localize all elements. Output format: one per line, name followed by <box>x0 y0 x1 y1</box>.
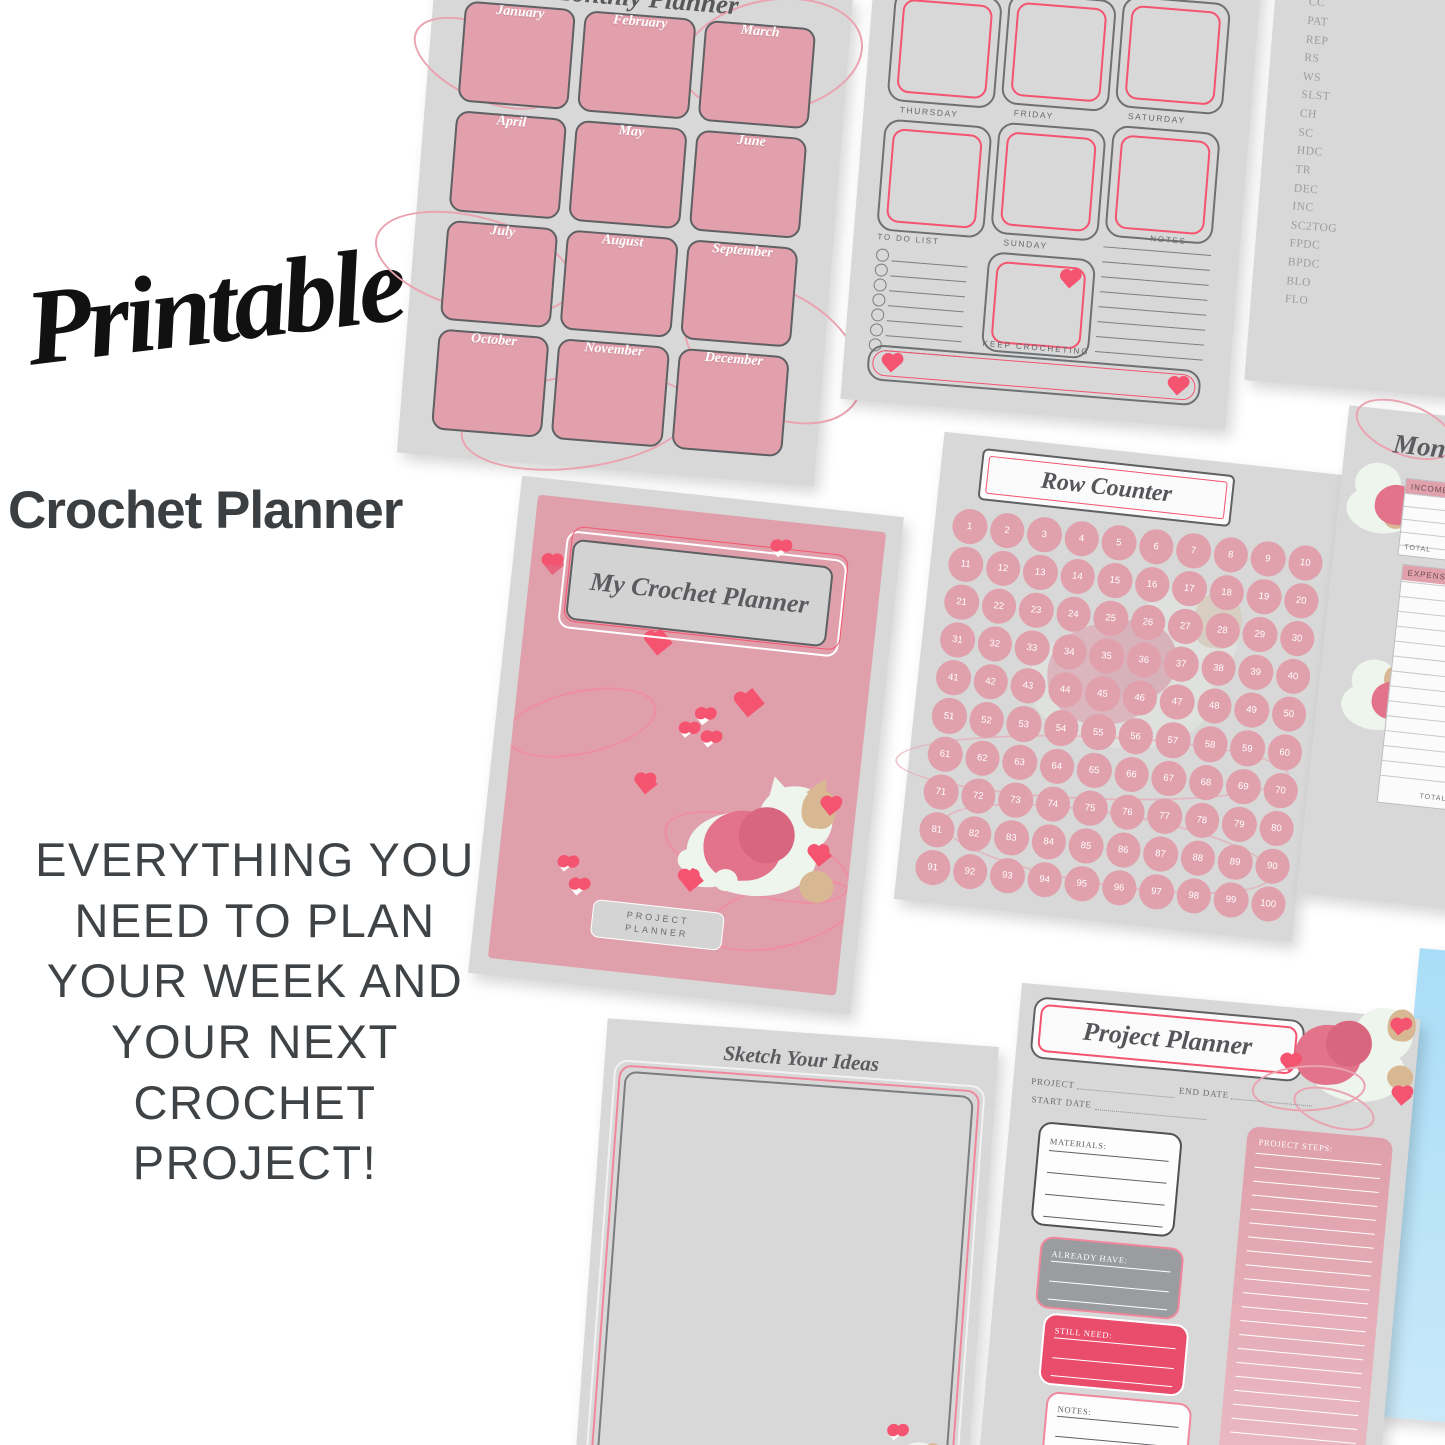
heart-icon <box>636 773 658 795</box>
project-step-line[interactable] <box>1239 1334 1365 1347</box>
project-step-line[interactable] <box>1240 1320 1366 1333</box>
project-step-line[interactable] <box>1254 1167 1380 1180</box>
month-label: July <box>449 219 557 244</box>
row-counter-cell[interactable]: 94 <box>1025 860 1063 899</box>
heart-icon <box>889 1428 901 1440</box>
row-counter-cell[interactable]: 63 <box>1001 743 1039 782</box>
todo-checkbox[interactable] <box>874 263 888 277</box>
printable-script-word: Printable <box>19 220 434 418</box>
month-label: April <box>457 110 565 135</box>
month-label: May <box>577 120 685 145</box>
project-steps-label: PROJECT STEPS: <box>1258 1137 1333 1154</box>
row-counter-cell[interactable]: 37 <box>1162 645 1200 684</box>
row-counter-cell[interactable]: 88 <box>1179 839 1217 878</box>
row-counter-grid[interactable]: 1234567891011121314151617181920212223242… <box>914 507 1325 923</box>
row-counter-cell[interactable]: 47 <box>1158 683 1196 722</box>
row-counter-cell[interactable]: 38 <box>1199 649 1237 688</box>
row-counter-cell[interactable]: 100 <box>1249 885 1287 924</box>
row-counter-cell[interactable]: 11 <box>947 545 985 584</box>
page-title: Crochet Planner <box>8 480 508 541</box>
row-counter-cell[interactable]: 15 <box>1096 561 1134 600</box>
month-box[interactable]: June <box>688 129 807 238</box>
row-counter-cell[interactable]: 73 <box>996 781 1034 820</box>
todo-line[interactable] <box>889 290 965 297</box>
day-box-wednesday[interactable]: WEDNESDAY <box>1115 0 1232 115</box>
row-counter-cell[interactable]: 31 <box>938 621 976 660</box>
row-counter-cell[interactable]: 55 <box>1079 713 1117 752</box>
marketing-tagline: EVERYTHING YOU NEED TO PLAN YOUR WEEK AN… <box>30 830 480 1194</box>
row-counter-cell[interactable]: 91 <box>914 848 952 887</box>
project-step-line[interactable] <box>1256 1153 1382 1166</box>
month-box[interactable]: November <box>551 338 670 447</box>
month-label: September <box>688 239 796 264</box>
project-step-line[interactable] <box>1238 1348 1364 1361</box>
notes-line[interactable] <box>1102 261 1210 271</box>
row-counter-cell[interactable]: 97 <box>1137 872 1175 911</box>
day-label: FRIDAY <box>1013 108 1054 121</box>
row-counter-cell[interactable]: 22 <box>980 587 1018 626</box>
todo-checkbox[interactable] <box>876 248 890 262</box>
project-planner-title: Project Planner <box>1032 998 1304 1080</box>
row-counter-cell[interactable]: 40 <box>1274 657 1312 696</box>
row-counter-cell[interactable]: 10 <box>1286 544 1324 583</box>
row-counter-cell[interactable]: 18 <box>1208 574 1246 613</box>
month-box[interactable]: February <box>577 10 696 119</box>
row-counter-cell[interactable]: 74 <box>1034 785 1072 824</box>
heart-icon <box>735 688 765 717</box>
row-counter-cell[interactable]: 54 <box>1042 709 1080 748</box>
month-label: November <box>560 338 668 363</box>
materials-card[interactable]: MATERIALS: <box>1030 1121 1183 1238</box>
row-counter-cell[interactable]: 41 <box>934 659 972 698</box>
field-label-project: PROJECT <box>1031 1076 1075 1090</box>
notes-label: NOTES: <box>1057 1404 1092 1417</box>
notes-card[interactable]: NOTES: <box>1041 1391 1192 1445</box>
todo-checkbox[interactable] <box>873 278 887 292</box>
notes-line[interactable] <box>1101 276 1209 286</box>
row-counter-cell[interactable]: 30 <box>1278 619 1316 658</box>
month-box[interactable]: September <box>680 239 799 348</box>
row-counter-page: Row Counter 1234567891011121314151617181… <box>894 432 1342 942</box>
row-counter-cell[interactable]: 69 <box>1224 767 1262 806</box>
income-row[interactable] <box>1404 506 1445 529</box>
income-label: INCOME <box>1405 479 1445 501</box>
row-counter-cell[interactable]: 75 <box>1071 789 1109 828</box>
row-counter-cell[interactable]: 72 <box>959 776 997 815</box>
row-counter-cell[interactable]: 48 <box>1195 687 1233 726</box>
day-label: SATURDAY <box>1128 111 1186 126</box>
month-label: August <box>568 229 676 254</box>
month-label: June <box>697 129 805 154</box>
project-planner-badge: PROJECT PLANNER <box>590 899 725 951</box>
row-counter-cell[interactable]: 21 <box>942 583 980 622</box>
day-box-thursday[interactable]: THURSDAY <box>876 118 993 238</box>
row-counter-cell[interactable]: 64 <box>1038 747 1076 786</box>
notes-line[interactable] <box>1100 291 1208 301</box>
row-counter-cell[interactable]: 93 <box>988 856 1026 895</box>
row-counter-cell[interactable]: 56 <box>1116 717 1154 756</box>
row-counter-cell[interactable]: 66 <box>1112 755 1150 794</box>
cover-pink-panel: My Crochet Planner PROJECT PLANNER <box>488 495 886 996</box>
row-counter-cell[interactable]: 87 <box>1141 835 1179 874</box>
project-step-line[interactable] <box>1250 1208 1376 1221</box>
heart-icon <box>543 553 565 575</box>
row-counter-cell[interactable]: 62 <box>963 739 1001 778</box>
already-have-card[interactable]: ALREADY HAVE: <box>1035 1236 1185 1321</box>
todo-line[interactable] <box>892 260 968 267</box>
row-counter-cell[interactable]: 53 <box>1005 705 1043 744</box>
todo-checkbox[interactable] <box>872 293 886 307</box>
row-counter-cell[interactable]: 25 <box>1092 599 1130 638</box>
month-box[interactable]: May <box>568 120 687 229</box>
todo-line[interactable] <box>887 320 963 327</box>
income-row[interactable] <box>1405 493 1445 516</box>
row-counter-cell[interactable]: 29 <box>1241 615 1279 654</box>
day-box-saturday[interactable]: SATURDAY <box>1104 125 1221 245</box>
row-counter-cell[interactable]: 9 <box>1249 540 1287 579</box>
project-planner-page: Project Planner PROJECT END DATE START D… <box>980 983 1421 1445</box>
row-counter-cell[interactable]: 60 <box>1266 733 1304 772</box>
abbreviation-item: FLO <box>1284 290 1332 312</box>
abbreviations-page: YOSKCCPATREPRSWSSLSTCHSCHDCTRDECINCSC2TO… <box>1244 0 1445 402</box>
row-counter-cell[interactable]: 39 <box>1237 653 1275 692</box>
row-counter-cell[interactable]: 27 <box>1166 607 1204 646</box>
row-counter-cell[interactable]: 8 <box>1212 536 1250 575</box>
project-step-line[interactable] <box>1245 1264 1371 1277</box>
cover-page: My Crochet Planner PROJECT PLANNER <box>468 476 904 1015</box>
row-counter-cell[interactable]: 20 <box>1282 582 1320 621</box>
row-counter-cell[interactable]: 4 <box>1063 519 1101 558</box>
row-counter-cell[interactable]: 77 <box>1146 797 1184 836</box>
month-box[interactable]: August <box>560 229 679 338</box>
row-counter-cell[interactable]: 13 <box>1021 553 1059 592</box>
row-counter-cell[interactable]: 43 <box>1009 667 1047 706</box>
row-counter-cell[interactable]: 78 <box>1183 801 1221 840</box>
row-counter-cell[interactable]: 90 <box>1253 847 1291 886</box>
row-counter-cell[interactable]: 86 <box>1104 831 1142 870</box>
row-counter-cell[interactable]: 84 <box>1030 822 1068 861</box>
row-counter-cell[interactable]: 85 <box>1067 826 1105 865</box>
row-counter-cell[interactable]: 16 <box>1133 565 1171 604</box>
project-planner-title-box: Project Planner <box>1029 996 1305 1082</box>
row-counter-cell[interactable]: 2 <box>988 511 1026 550</box>
materials-label: MATERIALS: <box>1049 1136 1107 1151</box>
field-label-end-date: END DATE <box>1179 1086 1230 1101</box>
row-counter-cell[interactable]: 70 <box>1262 771 1300 810</box>
row-counter-cell[interactable]: 26 <box>1129 603 1167 642</box>
row-counter-cell[interactable]: 96 <box>1100 868 1138 907</box>
project-step-line[interactable] <box>1243 1292 1369 1305</box>
row-counter-cell[interactable]: 35 <box>1087 637 1125 676</box>
row-counter-cell[interactable]: 68 <box>1187 763 1225 802</box>
month-box[interactable]: October <box>431 329 550 438</box>
monthly-planner-page: Monthly Planner January February March A… <box>397 0 853 486</box>
row-counter-cell[interactable]: 82 <box>955 814 993 853</box>
day-box-monday[interactable]: MONDAY <box>886 0 1003 109</box>
row-counter-cell[interactable]: 5 <box>1100 523 1138 562</box>
heart-icon <box>680 726 692 738</box>
row-counter-cell[interactable]: 76 <box>1108 793 1146 832</box>
row-counter-cell[interactable]: 19 <box>1245 578 1283 617</box>
project-step-line[interactable] <box>1249 1222 1375 1235</box>
row-counter-cell[interactable]: 71 <box>922 772 960 811</box>
row-counter-cell[interactable]: 28 <box>1203 611 1241 650</box>
weekly-planner-page: MONDAY TUESDAY WEDNESDAY THURSDAY FRIDAY… <box>840 0 1265 430</box>
project-step-line[interactable] <box>1233 1404 1359 1417</box>
month-grid: January February March April May June Ju… <box>431 0 816 457</box>
product-mockup-canvas: Printable Crochet Planner EVERYTHING YOU… <box>0 0 1445 1445</box>
notes-line[interactable] <box>1103 246 1211 256</box>
row-counter-cell[interactable]: 61 <box>926 735 964 774</box>
row-counter-cell[interactable]: 80 <box>1257 809 1295 848</box>
row-counter-cell[interactable]: 36 <box>1125 641 1163 680</box>
day-box-tuesday[interactable]: TUESDAY <box>1001 0 1118 112</box>
month-box[interactable]: March <box>697 20 816 129</box>
row-counter-cell[interactable]: 3 <box>1025 515 1063 554</box>
project-step-line[interactable] <box>1244 1278 1370 1291</box>
row-counter-cell[interactable]: 92 <box>951 852 989 891</box>
todo-checkbox[interactable] <box>871 308 885 322</box>
month-label: December <box>680 348 788 373</box>
month-box[interactable]: January <box>457 0 576 109</box>
row-counter-cell[interactable]: 44 <box>1046 671 1084 710</box>
row-counter-cell[interactable]: 42 <box>971 663 1009 702</box>
row-counter-cell[interactable]: 17 <box>1170 569 1208 608</box>
project-step-line[interactable] <box>1248 1236 1374 1249</box>
row-counter-cell[interactable]: 45 <box>1083 675 1121 714</box>
income-panel[interactable]: INCOME <box>1397 478 1445 577</box>
month-box[interactable]: April <box>449 110 568 219</box>
row-counter-cell[interactable]: 65 <box>1075 751 1113 790</box>
project-step-line[interactable] <box>1237 1362 1363 1375</box>
project-step-line[interactable] <box>1235 1376 1361 1389</box>
notes-line[interactable] <box>1099 306 1207 316</box>
notes-label: NOTES <box>1150 234 1187 246</box>
row-counter-cell[interactable]: 58 <box>1191 725 1229 764</box>
row-counter-cell[interactable]: 14 <box>1058 557 1096 596</box>
row-counter-cell[interactable]: 83 <box>992 818 1030 857</box>
row-counter-cell[interactable]: 99 <box>1212 881 1250 920</box>
project-step-line[interactable] <box>1234 1390 1360 1403</box>
notes-line[interactable] <box>1096 336 1204 346</box>
row-counter-cell[interactable]: 6 <box>1137 528 1175 567</box>
row-counter-cell[interactable]: 79 <box>1220 805 1258 844</box>
day-label: THURSDAY <box>899 105 959 120</box>
heart-icon <box>559 860 571 872</box>
row-counter-cell[interactable]: 57 <box>1154 721 1192 760</box>
heart-icon <box>1393 1087 1412 1106</box>
cat-illustration <box>671 752 854 919</box>
notes-line[interactable] <box>1097 321 1205 331</box>
income-row[interactable] <box>1402 519 1445 542</box>
row-counter-cell[interactable]: 89 <box>1216 843 1254 882</box>
row-counter-cell[interactable]: 7 <box>1174 532 1212 571</box>
todo-line[interactable] <box>888 305 964 312</box>
row-counter-cell[interactable]: 81 <box>918 810 956 849</box>
row-counter-cell[interactable]: 95 <box>1063 864 1101 903</box>
row-counter-cell[interactable]: 12 <box>984 549 1022 588</box>
row-counter-cell[interactable]: 33 <box>1013 629 1051 668</box>
project-step-line[interactable] <box>1247 1250 1373 1263</box>
heart-icon <box>702 734 715 747</box>
day-box-friday[interactable]: FRIDAY <box>990 122 1107 242</box>
row-counter-cell[interactable]: 59 <box>1228 729 1266 768</box>
row-counter-cell[interactable]: 67 <box>1150 759 1188 798</box>
month-box[interactable]: December <box>671 348 790 457</box>
row-counter-cell[interactable]: 34 <box>1050 633 1088 672</box>
month-label: October <box>440 329 548 354</box>
project-steps-panel[interactable]: PROJECT STEPS: <box>1218 1126 1394 1445</box>
abbreviation-list: YOSKCCPATREPRSWSSLSTCHSCHDCTRDECINCSC2TO… <box>1284 0 1358 313</box>
field-label-start-date: START DATE <box>1031 1094 1092 1109</box>
row-counter-cell[interactable]: 51 <box>930 697 968 736</box>
row-counter-cell[interactable]: 1 <box>951 507 989 546</box>
project-step-line[interactable] <box>1252 1195 1378 1208</box>
row-counter-cell[interactable]: 49 <box>1232 691 1270 730</box>
row-counter-cell[interactable]: 24 <box>1054 595 1092 634</box>
project-step-line[interactable] <box>1242 1306 1368 1319</box>
still-need-card[interactable]: STILL NEED: <box>1038 1312 1190 1397</box>
project-step-line[interactable] <box>1231 1418 1357 1431</box>
row-counter-cell[interactable]: 23 <box>1017 591 1055 630</box>
row-counter-cell[interactable]: 98 <box>1175 877 1213 916</box>
project-step-line[interactable] <box>1253 1181 1379 1194</box>
heart-icon <box>570 881 585 896</box>
sketch-ideas-page: Sketch Your Ideas <box>573 1018 998 1445</box>
row-counter-cell[interactable]: 32 <box>976 625 1014 664</box>
row-counter-cell[interactable]: 50 <box>1270 695 1308 734</box>
project-step-line[interactable] <box>1230 1432 1356 1445</box>
todo-line[interactable] <box>890 275 966 282</box>
day-label: SUNDAY <box>1003 237 1048 251</box>
row-counter-cell[interactable]: 46 <box>1121 679 1159 718</box>
month-box[interactable]: July <box>440 219 559 328</box>
sketch-drawing-area[interactable] <box>596 1071 974 1445</box>
row-counter-cell[interactable]: 52 <box>967 701 1005 740</box>
